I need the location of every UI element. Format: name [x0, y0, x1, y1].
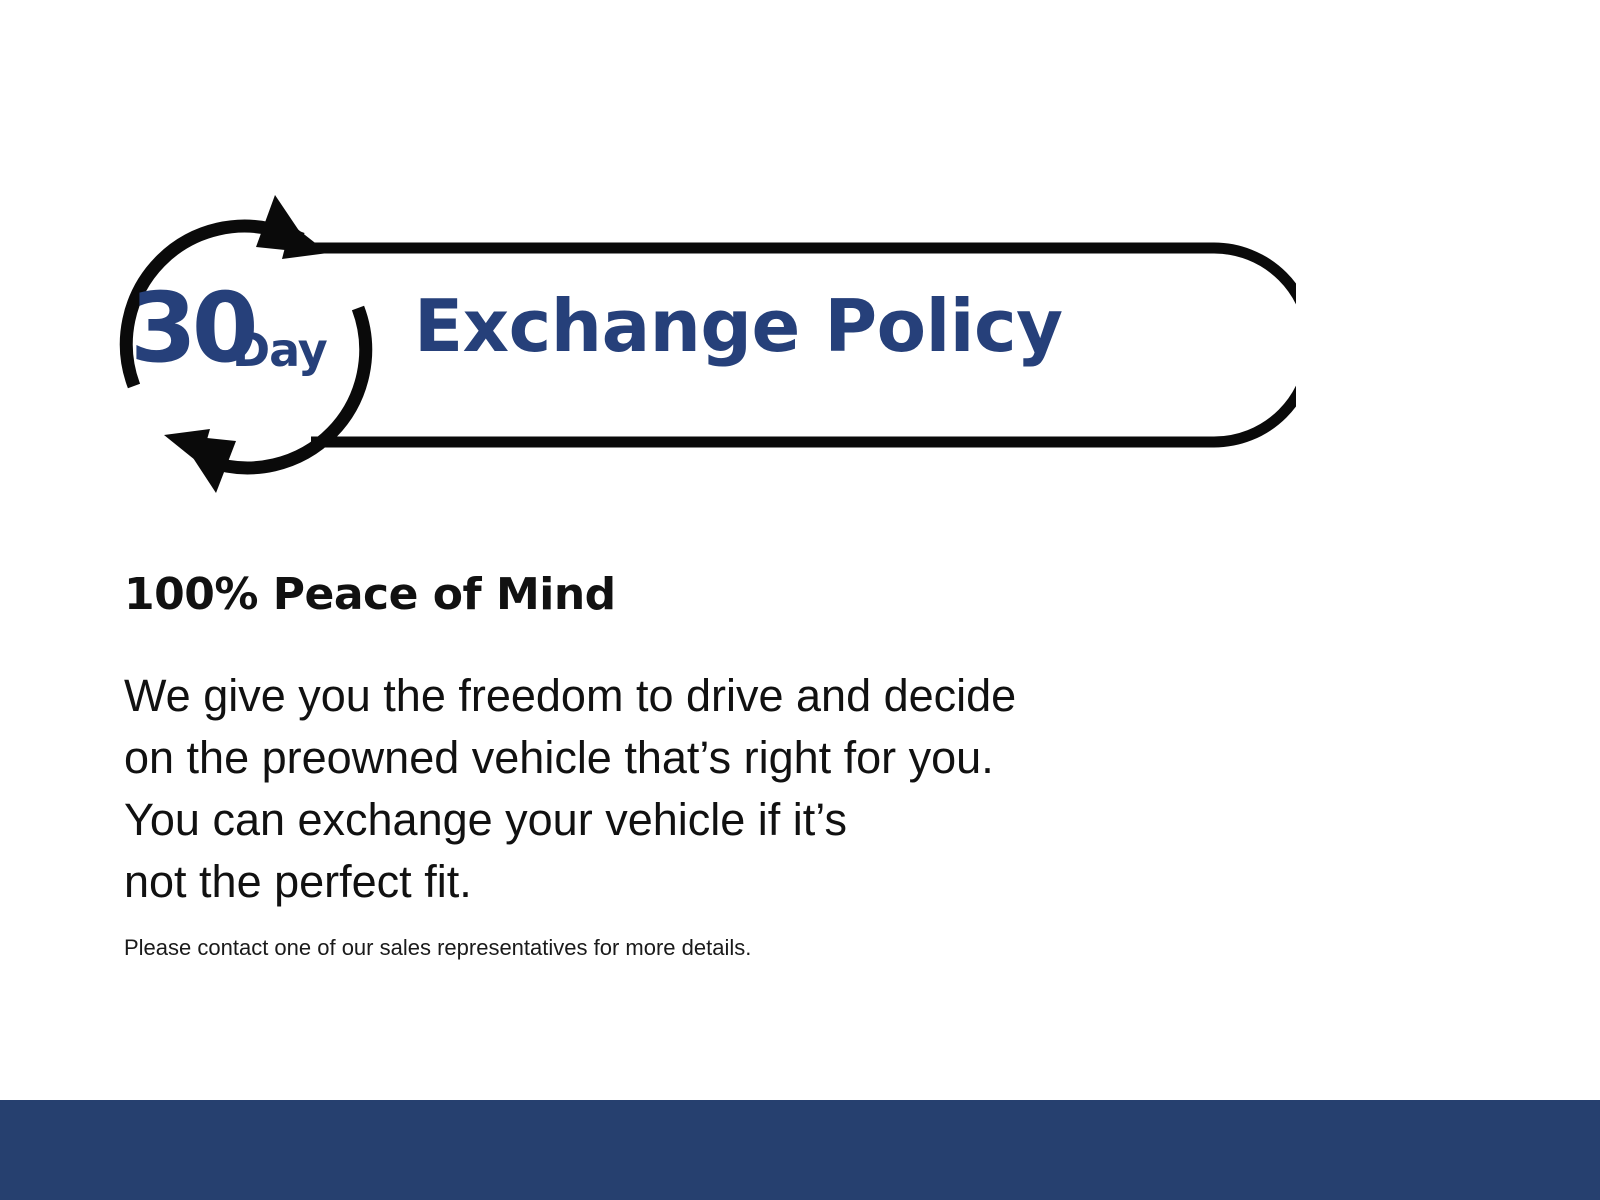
body-line: not the perfect fit. [124, 851, 1374, 913]
body-paragraph: We give you the freedom to drive and dec… [124, 665, 1374, 913]
headline: 100% Peace of Mind [124, 569, 616, 620]
exchange-policy-badge: 30 Day Exchange Policy [96, 190, 1296, 500]
body-line: on the preowned vehicle that’s right for… [124, 727, 1374, 789]
body-line: You can exchange your vehicle if it’s [124, 789, 1374, 851]
footer-band [0, 1100, 1600, 1200]
badge-title: Exchange Policy [414, 290, 1063, 362]
slide-canvas: 30 Day Exchange Policy 100% Peace of Min… [0, 0, 1600, 1200]
body-line: We give you the freedom to drive and dec… [124, 665, 1374, 727]
footnote-disclaimer: Please contact one of our sales represen… [124, 935, 751, 961]
badge-unit-label: Day [232, 327, 327, 373]
